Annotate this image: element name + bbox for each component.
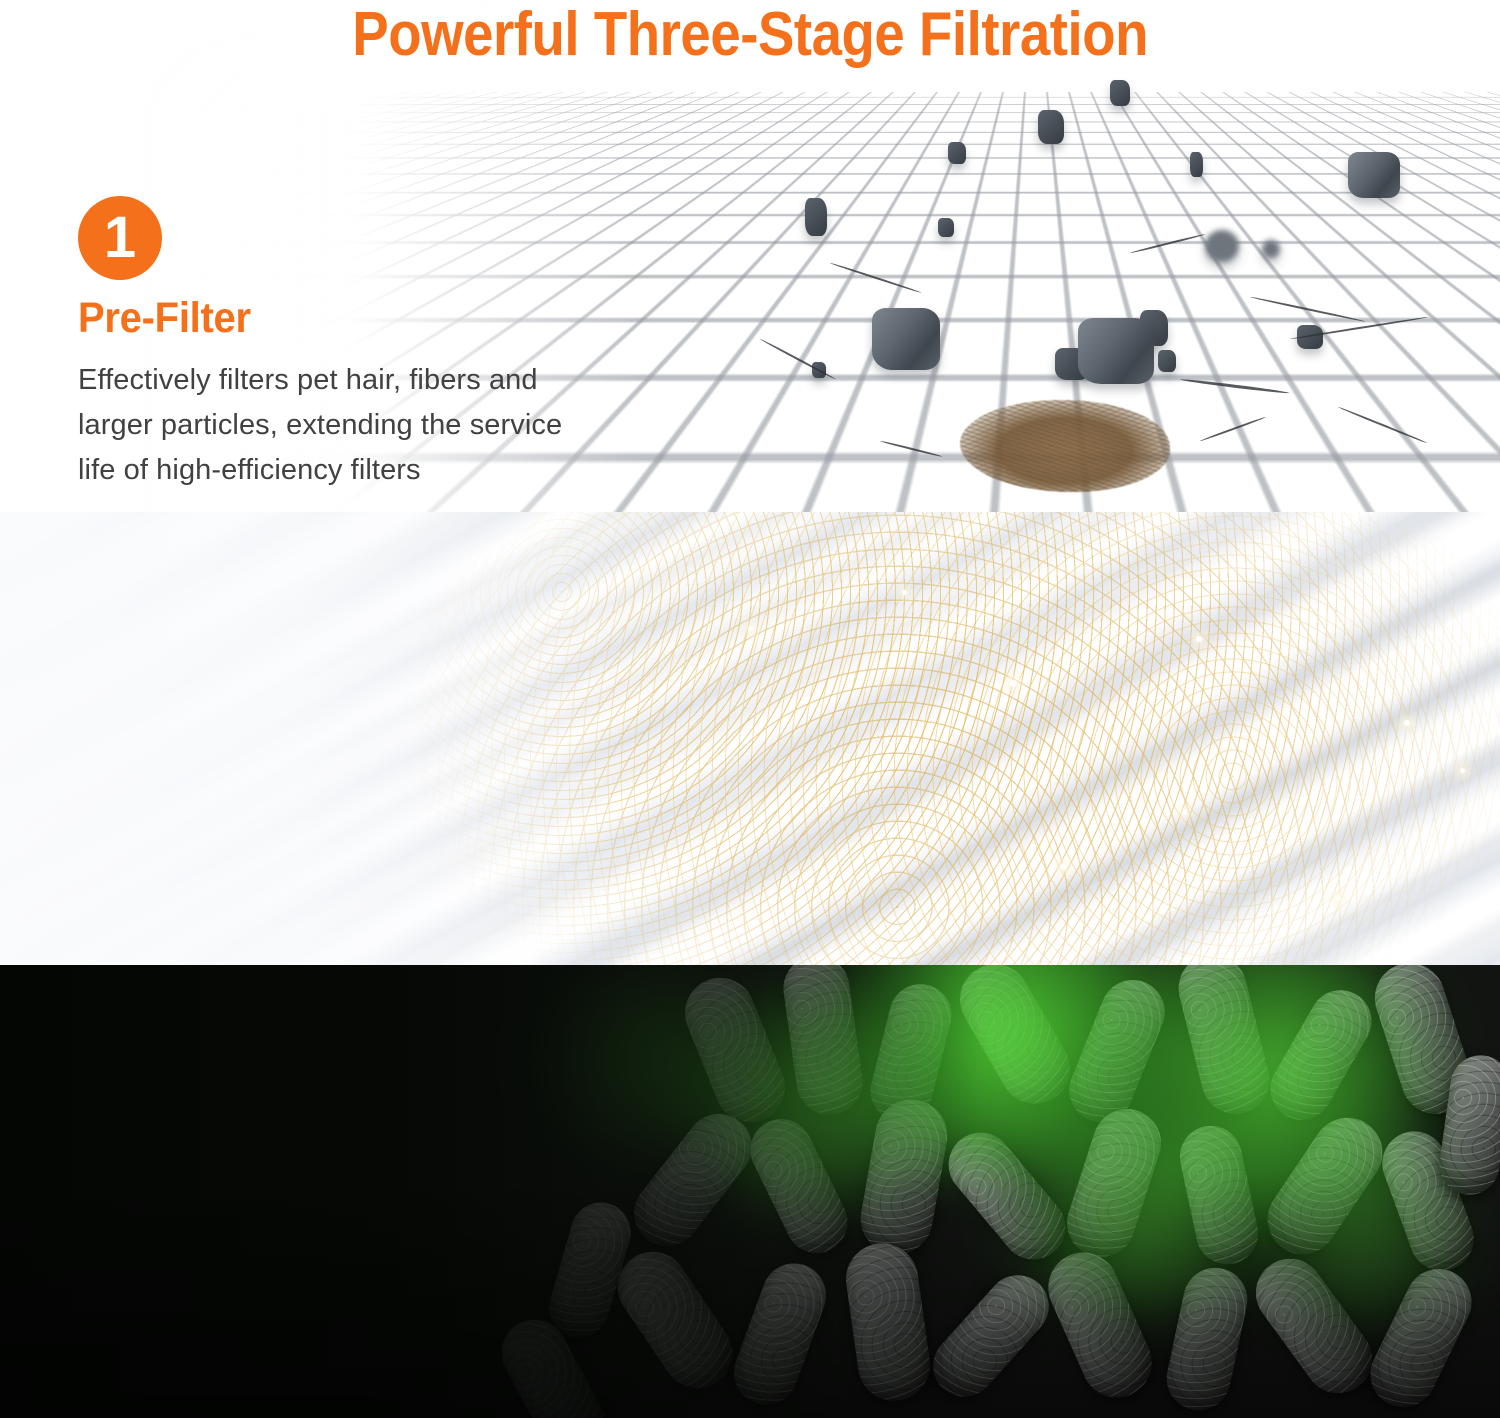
dust-sparkle [1182,810,1187,815]
debris-chunk [1348,152,1400,198]
debris-dot [1205,230,1239,262]
dust-sparkle [1060,864,1066,870]
stage-body-line: Effectively filters pet hair, fibers and [78,358,562,403]
stage-body-pre-filter: Effectively filters pet hair, fibers and… [78,358,562,493]
debris-chunk [948,142,966,164]
panel-bottom-fade [0,1169,1500,1418]
stage-panel-hepa-filter: 2 HEPA Filter Removes 99.97% of particle… [0,512,1500,965]
stage-heading-pre-filter: Pre-Filter [78,293,528,343]
dust-sparkle [902,590,907,595]
debris-chunk [805,198,827,236]
debris-dot [1262,240,1280,258]
debris-chunk [1038,110,1064,144]
stage-body-line: life of high-efficiency filters [78,448,562,493]
debris-chunk-large [1078,318,1154,384]
stage-panel-active-carbon-filter: 3 Active Carbon Filter Highly Effective … [0,965,1500,1418]
debris-chunk [1158,350,1176,372]
dust-sparkle [1010,680,1017,687]
stage-number-badge-1: 1 [78,196,162,280]
stage-panel-pre-filter: 1 Pre-Filter Effectively filters pet hai… [0,0,1500,512]
stage-text-pre-filter: 1 Pre-Filter Effectively filters pet hai… [78,196,562,493]
dust-sparkle [1404,720,1410,726]
debris-chunk [1190,152,1203,177]
hepa-pleat-photo [0,512,1500,965]
dust-sparkle [1196,636,1202,642]
debris-chunk [1110,80,1130,106]
carbon-pellet-photo [0,965,1500,1418]
debris-chunk [938,218,954,237]
dust-sparkle [1336,896,1341,901]
dust-sparkle [748,626,753,631]
panel-left-fade [0,512,620,965]
debris-chunk-large [872,308,940,370]
dust-sparkle [1460,768,1465,773]
stage-body-line: larger particles, extending the service [78,403,562,448]
